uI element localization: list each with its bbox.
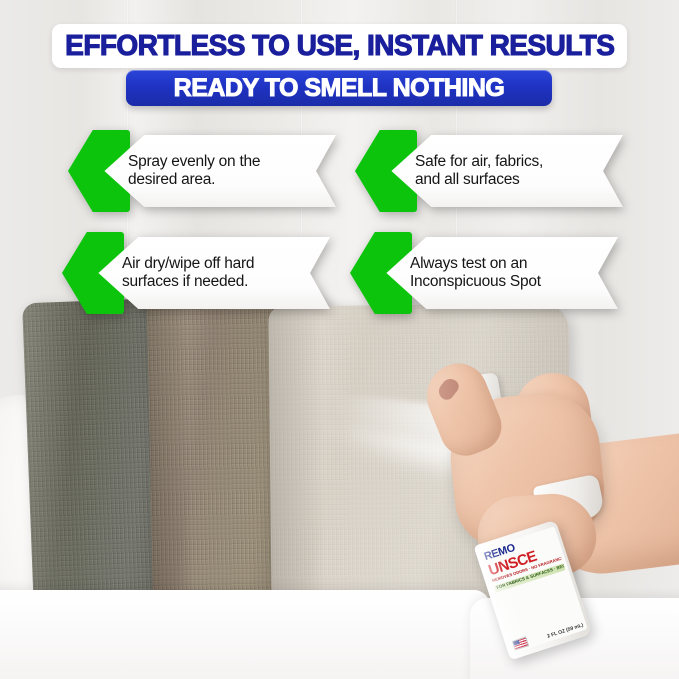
product-lifestyle-image: REMO UNSCE REMOVES ODORS · NO FRAGRANCE … bbox=[0, 0, 679, 679]
callout-line-2: surfaces if needed. bbox=[122, 273, 307, 291]
callout-test-spot: Always test on an Inconspicuous Spot bbox=[350, 232, 618, 314]
callout-spray-evenly: Spray evenly on the desired area. bbox=[68, 130, 336, 212]
callout-text: Safe for air, fabrics, and all surfaces bbox=[415, 130, 600, 212]
callout-line-1: Spray evenly on the bbox=[128, 153, 313, 171]
callout-safe-surfaces: Safe for air, fabrics, and all surfaces bbox=[355, 130, 623, 212]
headline-secondary-text: READY TO SMELL NOTHING bbox=[174, 74, 505, 103]
callout-air-dry-wipe: Air dry/wipe off hard surfaces if needed… bbox=[62, 232, 330, 314]
callout-line-1: Air dry/wipe off hard bbox=[122, 255, 307, 273]
thumbnail bbox=[435, 375, 461, 402]
headline-secondary-banner: READY TO SMELL NOTHING bbox=[126, 70, 552, 106]
callout-line-1: Always test on an bbox=[410, 255, 595, 273]
callout-line-2: desired area. bbox=[128, 171, 313, 189]
callout-line-2: Inconspicuous Spot bbox=[410, 273, 595, 291]
callout-line-1: Safe for air, fabrics, bbox=[415, 153, 600, 171]
label-volume: 2 FL OZ (59 mL) bbox=[547, 622, 585, 639]
sofa-seat-cushion-left bbox=[0, 590, 490, 679]
usa-flag-icon bbox=[512, 636, 529, 650]
callout-text: Always test on an Inconspicuous Spot bbox=[410, 232, 595, 314]
callout-text: Spray evenly on the desired area. bbox=[128, 130, 313, 212]
headline-primary-banner: EFFORTLESS TO USE, INSTANT RESULTS bbox=[52, 24, 627, 68]
callout-line-2: and all surfaces bbox=[415, 171, 600, 189]
hand-holding-spray-bottle: REMO UNSCE REMOVES ODORS · NO FRAGRANCE … bbox=[420, 355, 679, 635]
headline-primary-text: EFFORTLESS TO USE, INSTANT RESULTS bbox=[65, 30, 614, 63]
callout-text: Air dry/wipe off hard surfaces if needed… bbox=[122, 232, 307, 314]
